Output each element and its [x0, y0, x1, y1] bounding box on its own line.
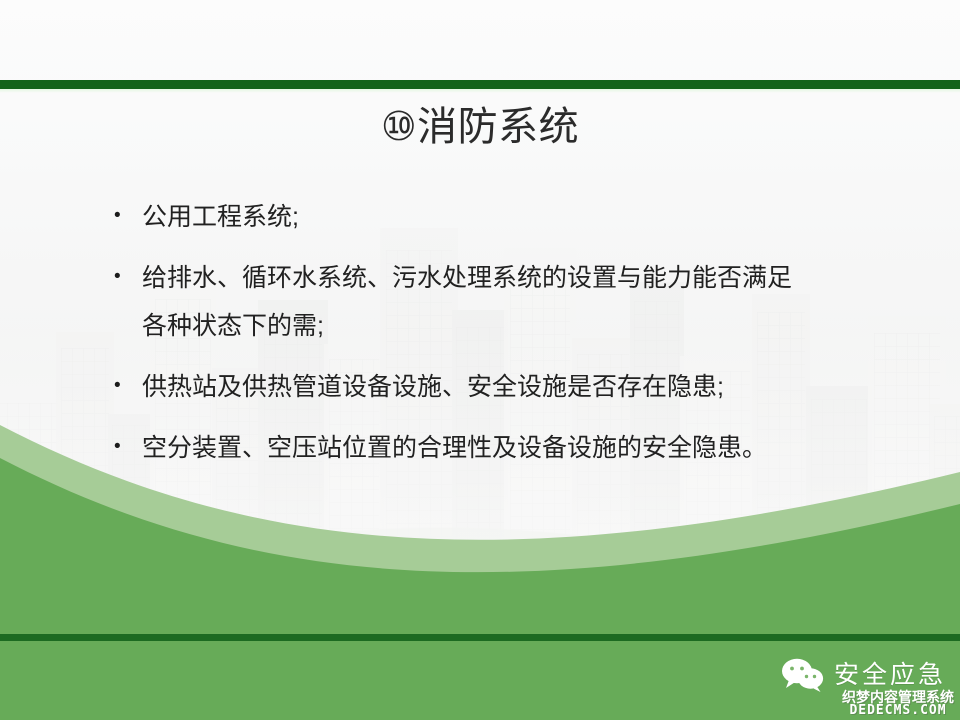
footer-divider-bar	[0, 634, 960, 641]
footer-brand-logo: 安全应急	[781, 658, 946, 692]
list-item-text: 供热站及供热管道设备设施、安全设施是否存在隐患;	[142, 373, 884, 401]
header-divider-bar	[0, 80, 960, 89]
bullet-point-icon: •	[104, 373, 142, 400]
brand-name-label: 安全应急	[834, 663, 946, 688]
list-item-line: 各种状态下的需;	[142, 312, 884, 340]
list-item: • 供热站及供热管道设备设施、安全设施是否存在隐患;	[104, 373, 884, 401]
list-item: • 公用工程系统;	[104, 203, 884, 231]
presentation-slide: ⑩消防系统 • 公用工程系统; • 给排水、循环水系统、污水处理系统的设置与能力…	[0, 0, 960, 720]
list-item-line: 公用工程系统;	[142, 203, 884, 231]
bullet-point-icon: •	[104, 203, 142, 230]
bullet-point-icon: •	[104, 264, 142, 291]
header-divider-glow	[0, 89, 960, 93]
slide-title: ⑩消防系统	[0, 102, 960, 152]
list-item-text: 公用工程系统;	[142, 203, 884, 231]
list-item-line: 供热站及供热管道设备设施、安全设施是否存在隐患;	[142, 373, 884, 401]
site-watermark: 织梦内容管理系统 DEDECMS.COM	[842, 690, 954, 718]
list-item-text: 给排水、循环水系统、污水处理系统的设置与能力能否满足 各种状态下的需;	[142, 264, 884, 340]
list-item-line: 给排水、循环水系统、污水处理系统的设置与能力能否满足	[142, 264, 884, 292]
list-item: • 给排水、循环水系统、污水处理系统的设置与能力能否满足 各种状态下的需;	[104, 264, 884, 340]
watermark-line-cn: 织梦内容管理系统	[842, 690, 954, 705]
watermark-line-domain: DEDECMS.COM	[842, 704, 954, 718]
wechat-icon	[781, 658, 825, 692]
